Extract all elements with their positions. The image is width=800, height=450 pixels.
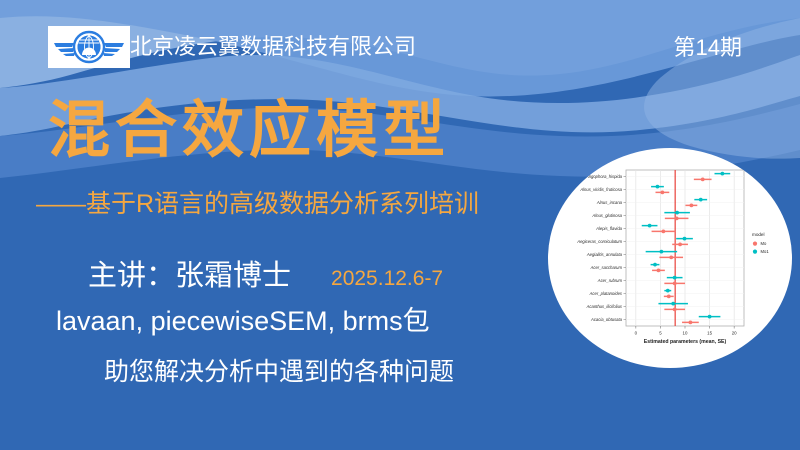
poster-canvas: 北京凌云翼数据科技有限公司 第14期 混合效应模型 ——基于R语言的高级数据分析…: [0, 0, 800, 450]
issue-badge: 第14期: [674, 28, 742, 68]
svg-text:Mo: Mo: [761, 241, 767, 246]
forest-plot-chart: Angophora_hispidaAlnus_viridis_fruticosa…: [548, 148, 792, 368]
svg-text:15: 15: [707, 331, 712, 336]
winged-globe-logo-icon: [52, 29, 126, 65]
poster-header: 北京凌云翼数据科技有限公司 第14期: [0, 24, 800, 72]
speaker-row: 主讲：张霜博士 2025.12.6-7: [88, 252, 443, 292]
svg-text:Alnus_viridis_fruticosa: Alnus_viridis_fruticosa: [579, 187, 622, 192]
page-title: 混合效应模型: [48, 96, 450, 166]
svg-text:Acer_saccharum: Acer_saccharum: [590, 265, 623, 270]
svg-text:Acer_rubrum: Acer_rubrum: [597, 278, 623, 283]
svg-text:0: 0: [635, 331, 638, 336]
svg-text:Alepis_flavida: Alepis_flavida: [595, 226, 623, 231]
company-name: 北京凌云翼数据科技有限公司: [130, 27, 416, 67]
page-subtitle: ——基于R语言的高级数据分析系列培训: [36, 186, 479, 222]
svg-text:Alnus_glutinosa: Alnus_glutinosa: [591, 213, 622, 218]
svg-text:20: 20: [732, 331, 737, 336]
speaker-name: 主讲：张霜博士: [88, 252, 291, 294]
svg-text:Aegialitis_annulata: Aegialitis_annulata: [586, 252, 623, 257]
packages-line: lavaan, piecewiseSEM, brms包: [56, 303, 430, 339]
svg-text:Acanthus_ilicifolius: Acanthus_ilicifolius: [586, 304, 623, 309]
forest-plot-container: Angophora_hispidaAlnus_viridis_fruticosa…: [548, 148, 792, 368]
event-date: 2025.12.6-7: [331, 267, 443, 291]
svg-text:Angophora_hispida: Angophora_hispida: [585, 174, 623, 179]
svg-text:model: model: [752, 232, 765, 237]
svg-text:10: 10: [683, 331, 688, 336]
svg-text:Estimated parameters (mean, SE: Estimated parameters (mean, SE): [644, 339, 727, 345]
svg-text:Mo1: Mo1: [761, 249, 770, 254]
company-logo: [48, 26, 130, 68]
svg-text:Alnus_incana: Alnus_incana: [596, 200, 623, 205]
svg-text:Acacia_obtusata: Acacia_obtusata: [590, 317, 623, 322]
svg-text:Aegiceras_corniculatum: Aegiceras_corniculatum: [576, 239, 622, 244]
svg-text:5: 5: [659, 331, 662, 336]
tagline: 助您解决分析中遇到的各种问题: [104, 355, 454, 389]
svg-text:Acer_platanoides: Acer_platanoides: [589, 291, 623, 296]
